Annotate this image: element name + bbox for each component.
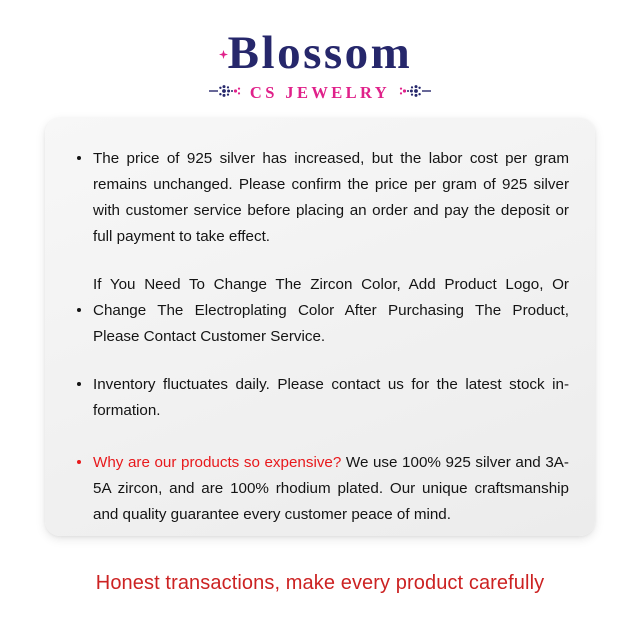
footer-tagline: Honest transactions, make every product …: [0, 570, 640, 596]
bullet-dot-icon: [77, 382, 81, 386]
brand-name-text: Blossom: [228, 27, 413, 79]
notice-card: The price of 925 silver has increased, b…: [45, 118, 595, 536]
bullet-dot-icon: [77, 308, 81, 312]
notice-item-price: The price of 925 silver has increased, b…: [71, 146, 569, 250]
footer-tagline-text: Honest transactions, make every product …: [96, 572, 544, 594]
brand-logo-block: Blossom: [0, 28, 640, 103]
notice-bullet-list: The price of 925 silver has increased, b…: [71, 146, 569, 528]
floral-divider-ornament-icon-right: [397, 83, 431, 104]
brand-subtitle-row: CS JEWELRY: [0, 83, 640, 103]
notice-item-inventory: Inventory fluctuates daily. Please conta…: [71, 372, 569, 424]
notice-item-pricing-question: Why are our products so expensive?: [93, 454, 341, 471]
brand-name-wrapper: Blossom: [228, 28, 413, 78]
bullet-dot-icon: [77, 156, 81, 160]
bullet-dot-icon: [77, 460, 81, 464]
notice-item-inventory-text: Inventory fluctuates daily. Please conta…: [93, 376, 569, 419]
diamond-sparkle-icon: [219, 50, 228, 59]
notice-item-customization-text: If You Need To Change The Zircon Color, …: [93, 276, 569, 345]
brand-subtitle-text: CS JEWELRY: [250, 83, 390, 103]
notice-item-price-text: The price of 925 silver has increased, b…: [93, 150, 569, 245]
notice-item-pricing-explanation: Why are our products so expensive? We us…: [71, 450, 569, 528]
notice-item-customization: If You Need To Change The Zircon Color, …: [71, 272, 569, 350]
floral-divider-ornament-icon-left: [209, 83, 243, 104]
